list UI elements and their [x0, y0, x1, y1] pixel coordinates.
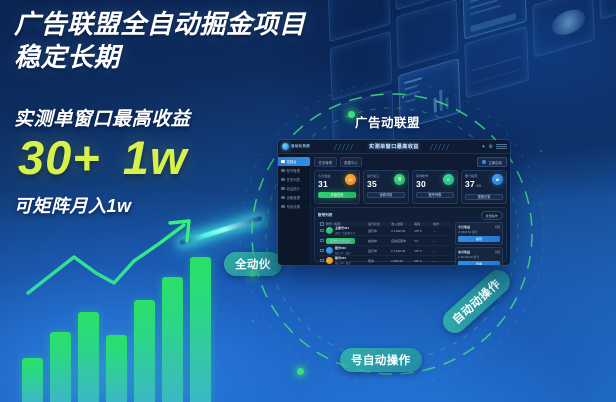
stat-card-badge: C	[443, 174, 454, 185]
headline-block: 广告联盟全自动掘金项目 稳定长期	[14, 8, 394, 74]
chevron-right-icon: ›	[306, 196, 307, 200]
account-table: 账号 / 昵称运行状态收入金额等级操作 主账号001绑定广告联盟主号运行中¥ 3…	[318, 222, 452, 258]
stat-card-button[interactable]: 开始任务	[318, 192, 356, 199]
row-status: 运行中	[368, 229, 389, 233]
device-icon	[281, 196, 285, 200]
avatar	[326, 227, 333, 234]
row-level: V4	[414, 239, 431, 243]
table-body: 主账号001绑定广告联盟主号运行中¥ 3,820.50VIP 5⋯自动化任务运行…	[318, 226, 452, 265]
titlebar-hatch-left	[335, 144, 357, 150]
logo-icon	[282, 143, 289, 150]
promo-poster: 广告联盟全自动掘金项目 稳定长期 实测单窗口最高收益 30+1w 可矩阵月入1w	[0, 0, 616, 402]
side-stat-button[interactable]: 查看	[458, 261, 500, 265]
row-checkbox[interactable]	[320, 239, 324, 243]
row-name-block: 账号002窗口 02 · 稳定	[335, 246, 351, 255]
start-button-label: 立即启动	[488, 160, 502, 165]
row-amount: 自动匹配中	[391, 239, 412, 243]
dashboard-title: 实测单窗口最高收益	[369, 143, 419, 150]
row-account-sub: 窗口 03 · 稳定	[335, 261, 351, 265]
headline-line-1: 广告联盟全自动掘金项目	[14, 8, 394, 41]
stat-card-badge: 活	[394, 174, 405, 185]
panel-columns: 账号 / 昵称运行状态收入金额等级操作 主账号001绑定广告联盟主号运行中¥ 3…	[318, 222, 503, 258]
row-account-cell: 自动化任务运行	[326, 238, 366, 244]
side-stat-sub: ¥ 28,140.00 累计	[458, 255, 500, 259]
flow-label-bottom[interactable]: 号自动操作	[340, 348, 422, 372]
status-badge: 自动化任务运行	[326, 238, 355, 244]
filter-icon[interactable]: ✦	[481, 144, 485, 150]
side-stat-title: 本月收益	[458, 250, 470, 254]
stat-card[interactable]: 有效账号30C账号列表	[412, 170, 458, 204]
gear-icon[interactable]: ⚙	[489, 144, 493, 150]
list-icon	[281, 178, 285, 182]
row-account-cell: 主账号001绑定广告联盟主号	[326, 226, 366, 235]
row-account-sub: 窗口 02 · 稳定	[335, 251, 351, 255]
row-level: VIP 3	[414, 259, 431, 263]
stat-card-value: 35	[367, 179, 379, 189]
chevron-right-icon: ›	[306, 205, 307, 209]
chart-icon	[281, 187, 285, 191]
row-status: 运行中	[368, 249, 389, 253]
dashboard-icon	[281, 160, 285, 164]
row-checkbox[interactable]	[320, 249, 324, 253]
row-amount: ¥ 3,820.50	[391, 229, 412, 233]
sidebar-item-label: 收益统计	[287, 186, 301, 191]
stat-card-value: 31	[318, 179, 330, 189]
dashboard-titlebar: 自动化系统 实测单窗口最高收益 ✦ ⚙	[278, 140, 510, 154]
sidebar-item-chart[interactable]: 收益统计›	[278, 184, 310, 193]
dashboard-window[interactable]: 自动化系统 实测单窗口最高收益 ✦ ⚙ 控制台账号管理›任务列表›收益统计›设备…	[278, 140, 510, 265]
stat-card-text: 今日收益31	[318, 174, 330, 189]
growth-bar-chart	[8, 217, 238, 402]
stat-card-text: 运行窗口35	[367, 174, 379, 189]
row-account-name: 主账号001	[335, 226, 355, 230]
dashboard-logo[interactable]: 自动化系统	[278, 143, 310, 150]
stat-card-text: 有效账号30	[416, 174, 428, 189]
play-icon	[482, 160, 486, 164]
flow-node-bottom	[297, 368, 304, 375]
row-account-name: 账号003	[335, 256, 351, 260]
row-action-button[interactable]: ⋯	[433, 249, 450, 253]
row-amount: ¥ 1,640.00	[391, 249, 412, 253]
stat-card[interactable]: 运行窗口35活查看详情	[363, 170, 409, 204]
account-panel: 账号列表 批量操作 账号 / 昵称运行状态收入金额等级操作 主账号001绑定广告…	[314, 207, 507, 262]
row-action-button[interactable]: ⋯	[433, 239, 450, 243]
batch-action-button[interactable]: 批量操作	[481, 211, 503, 220]
sidebar-item-dashboard[interactable]: 控制台	[278, 157, 310, 166]
stat-card-button[interactable]: 提现记录	[465, 194, 503, 201]
chevron-right-icon: ›	[306, 187, 307, 191]
toolbar-chip[interactable]: 任务管理	[314, 157, 337, 167]
sidebar-item-label: 系统设置	[287, 204, 301, 209]
stat-card-button[interactable]: 查看详情	[367, 192, 405, 199]
sidebar-item-list[interactable]: 任务列表›	[278, 175, 310, 184]
sidebar-item-label: 任务列表	[287, 177, 301, 182]
user-menu[interactable]	[496, 144, 507, 149]
stat-card-value: 37.00	[465, 179, 482, 191]
stat-card-button[interactable]: 账号列表	[416, 192, 454, 199]
flow-node-top	[348, 111, 355, 118]
titlebar-actions: ✦ ⚙	[481, 144, 507, 150]
row-level: VIP 4	[414, 249, 431, 253]
dashboard-body: 控制台账号管理›任务列表›收益统计›设备管理›系统设置› 任务管理 数据中心 立…	[278, 154, 510, 265]
promo-value-row: 30+1w	[18, 132, 187, 184]
gear-icon	[281, 205, 285, 209]
chevron-right-icon: ›	[306, 178, 307, 182]
panel-title: 账号列表	[318, 213, 332, 218]
sidebar-item-label: 设备管理	[287, 195, 301, 200]
dashboard-sidebar: 控制台账号管理›任务列表›收益统计›设备管理›系统设置›	[278, 154, 311, 265]
row-account-name: 账号002	[335, 246, 351, 250]
flow-label-top: 广告动联盟	[355, 112, 420, 131]
stat-card-badge: 44	[345, 174, 356, 185]
side-stat-button[interactable]: 提现	[458, 236, 500, 242]
start-button[interactable]: 立即启动	[477, 157, 507, 167]
side-stat-head: 本月收益明细	[458, 250, 500, 254]
chevron-right-icon: ›	[306, 169, 307, 173]
side-stat-meta[interactable]: 明细	[495, 225, 500, 229]
dashboard-main: 任务管理 数据中心 立即启动 今日收益3144开始任务运行窗口35活查看详情有效…	[311, 154, 510, 265]
stat-card-value: 30	[416, 179, 428, 189]
table-row[interactable]: 自动化任务运行启动中…自动匹配中V4⋯	[318, 236, 452, 246]
sidebar-item-label: 账号管理	[287, 168, 301, 173]
row-account-cell: B账号003窗口 03 · 稳定	[326, 256, 366, 265]
stat-card-badge: ⇄	[492, 174, 503, 185]
row-name-block: 主账号001绑定广告联盟主号	[335, 226, 355, 235]
row-action-button[interactable]: ⋯	[433, 229, 450, 233]
stat-card[interactable]: 今日收益3144开始任务	[314, 170, 360, 204]
row-name-block: 账号003窗口 03 · 稳定	[335, 256, 351, 265]
titlebar-hatch-right	[431, 144, 453, 150]
stat-card-head: 有效账号30C	[416, 174, 454, 189]
chart-trend-arrow	[8, 217, 238, 402]
avatar: A	[326, 247, 333, 254]
table-row[interactable]: 主账号001绑定广告联盟主号运行中¥ 3,820.50VIP 5⋯	[318, 226, 452, 236]
logo-text: 自动化系统	[291, 144, 310, 149]
side-stat-meta[interactable]: 明细	[495, 250, 500, 254]
stat-card-value-suffix: .00	[475, 183, 481, 188]
headline-line-2: 稳定长期	[14, 41, 394, 74]
row-action-button[interactable]: ⋯	[433, 259, 450, 263]
sidebar-item-gear[interactable]: 系统设置›	[278, 202, 310, 211]
promo-value-right: 1w	[123, 131, 188, 184]
avatar: B	[326, 257, 333, 264]
side-stat-block[interactable]: 本月收益明细¥ 28,140.00 累计查看	[455, 247, 503, 265]
row-level: VIP 5	[414, 229, 431, 233]
side-stat-head: 今日收益明细	[458, 225, 500, 229]
row-checkbox[interactable]	[320, 259, 324, 263]
side-stat-block[interactable]: 今日收益明细¥ 3,820.50 累计提现	[455, 222, 503, 245]
row-status: 暂停	[368, 259, 389, 263]
panel-header: 账号列表 批量操作	[318, 211, 503, 220]
sidebar-item-device[interactable]: 设备管理›	[278, 193, 310, 202]
users-icon	[281, 169, 285, 173]
row-account-sub: 绑定广告联盟主号	[335, 231, 355, 235]
side-stats-column: 今日收益明细¥ 3,820.50 累计提现本月收益明细¥ 28,140.00 累…	[455, 222, 503, 258]
side-stat-title: 今日收益	[458, 225, 470, 229]
promo-tagline: 可矩阵月入1w	[14, 192, 132, 218]
row-checkbox[interactable]	[320, 229, 324, 233]
table-row[interactable]: B账号003窗口 03 · 稳定暂停¥ 980.20VIP 3⋯	[318, 256, 452, 265]
stat-card-head: 今日收益3144	[318, 174, 356, 189]
row-status: 启动中…	[368, 239, 389, 243]
table-row[interactable]: A账号002窗口 02 · 稳定运行中¥ 1,640.00VIP 4⋯	[318, 246, 452, 256]
stat-card-text: 累计提现37.00	[465, 174, 482, 191]
row-amount: ¥ 980.20	[391, 259, 412, 263]
sidebar-item-users[interactable]: 账号管理›	[278, 166, 310, 175]
sidebar-item-label: 控制台	[287, 159, 297, 164]
flow-label-left[interactable]: 全动伙	[224, 252, 282, 276]
promo-subtitle: 实测单窗口最高收益	[14, 104, 190, 131]
stat-card-head: 运行窗口35活	[367, 174, 405, 189]
promo-value-left: 30+	[18, 131, 101, 184]
stat-card[interactable]: 累计提现37.00⇄提现记录	[461, 170, 507, 204]
stat-card-row: 今日收益3144开始任务运行窗口35活查看详情有效账号30C账号列表累计提现37…	[314, 170, 507, 204]
stat-card-head: 累计提现37.00⇄	[465, 174, 503, 191]
side-stat-sub: ¥ 3,820.50 累计	[458, 230, 500, 234]
dashboard-toolbar: 任务管理 数据中心 立即启动	[314, 157, 507, 167]
row-account-cell: A账号002窗口 02 · 稳定	[326, 246, 366, 255]
toolbar-chip[interactable]: 数据中心	[340, 157, 363, 167]
